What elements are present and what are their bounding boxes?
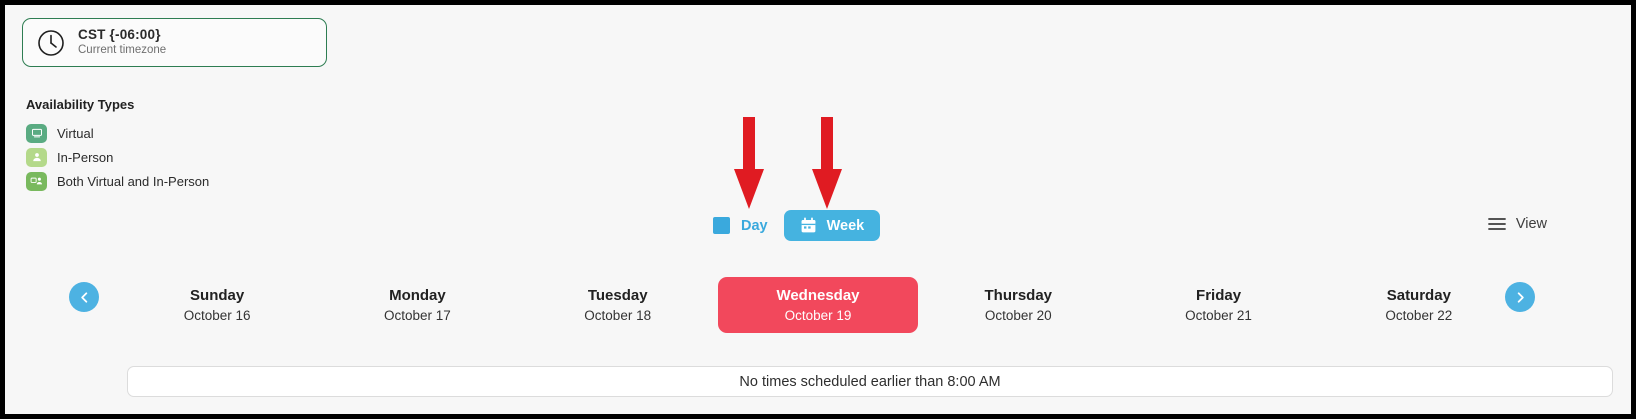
person-icon <box>26 148 47 167</box>
timezone-title: CST {-06:00} <box>78 27 166 43</box>
days-track: Sunday October 16 Monday October 17 Tues… <box>117 277 1519 333</box>
day-date: October 20 <box>985 306 1052 326</box>
day-name: Thursday <box>985 285 1053 306</box>
clock-icon <box>37 29 65 57</box>
no-earlier-times-bar[interactable]: No times scheduled earlier than 8:00 AM <box>127 366 1613 397</box>
day-date: October 17 <box>384 306 451 326</box>
toggle-day-option[interactable]: Day <box>711 213 770 238</box>
arrow-pointing-to-week-toggle <box>806 117 848 209</box>
day-column-thursday[interactable]: Thursday October 20 <box>918 277 1118 333</box>
chevron-right-icon <box>1513 290 1528 305</box>
day-week-toggle-group: Day Week <box>711 210 880 241</box>
calendar-icon <box>800 217 817 234</box>
legend-label-in-person: In-Person <box>57 150 113 165</box>
day-name: Monday <box>389 285 446 306</box>
day-column-friday[interactable]: Friday October 21 <box>1118 277 1318 333</box>
view-controls-row: Day Week <box>5 210 1631 246</box>
day-name: Wednesday <box>776 285 859 306</box>
hamburger-icon <box>1488 217 1506 231</box>
blue-square-icon <box>713 217 730 234</box>
view-button-label: View <box>1516 216 1547 232</box>
monitor-person-icon <box>26 172 47 191</box>
legend-label-virtual: Virtual <box>57 126 94 141</box>
view-button[interactable]: View <box>1488 216 1547 232</box>
day-name: Friday <box>1196 285 1241 306</box>
legend-item-virtual: Virtual <box>26 121 346 145</box>
legend-label-both: Both Virtual and In-Person <box>57 174 209 189</box>
day-column-monday[interactable]: Monday October 17 <box>317 277 517 333</box>
no-earlier-times-text: No times scheduled earlier than 8:00 AM <box>739 374 1000 390</box>
next-week-button[interactable] <box>1505 282 1535 312</box>
availability-legend-title: Availability Types <box>26 97 346 112</box>
day-date: October 21 <box>1185 306 1252 326</box>
monitor-icon <box>26 124 47 143</box>
toggle-week-option[interactable]: Week <box>784 210 881 241</box>
timezone-card: CST {-06:00} Current timezone <box>22 18 327 67</box>
toggle-day-label: Day <box>741 218 768 234</box>
scheduler-page: CST {-06:00} Current timezone Availabili… <box>0 0 1636 419</box>
day-column-sunday[interactable]: Sunday October 16 <box>117 277 317 333</box>
toggle-week-label: Week <box>827 218 865 234</box>
day-name: Sunday <box>190 285 244 306</box>
chevron-left-icon <box>77 290 92 305</box>
legend-item-both: Both Virtual and In-Person <box>26 169 346 193</box>
availability-legend: Availability Types Virtual In-Person <box>26 97 346 193</box>
day-column-wednesday[interactable]: Wednesday October 19 <box>718 277 918 333</box>
day-column-saturday[interactable]: Saturday October 22 <box>1319 277 1519 333</box>
legend-item-in-person: In-Person <box>26 145 346 169</box>
day-name: Saturday <box>1387 285 1451 306</box>
timezone-subtitle: Current timezone <box>78 43 166 58</box>
week-day-strip: Sunday October 16 Monday October 17 Tues… <box>5 277 1631 333</box>
day-date: October 16 <box>184 306 251 326</box>
previous-week-button[interactable] <box>69 282 99 312</box>
day-date: October 22 <box>1385 306 1452 326</box>
arrow-pointing-to-day-toggle <box>728 117 770 209</box>
day-column-tuesday[interactable]: Tuesday October 18 <box>518 277 718 333</box>
day-date: October 18 <box>584 306 651 326</box>
day-name: Tuesday <box>588 285 648 306</box>
day-date: October 19 <box>785 306 852 326</box>
